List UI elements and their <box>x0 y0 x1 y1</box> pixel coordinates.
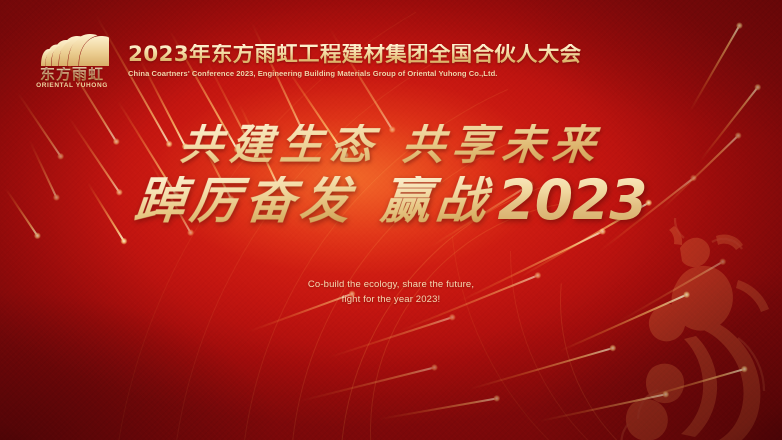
conference-title-cn: 2023年东方雨虹工程建材集团全国合伙人大会 <box>128 44 581 67</box>
rainbow-arc-logo-icon <box>35 33 109 66</box>
header-text-block: 2023年东方雨虹工程建材集团全国合伙人大会 China Coartners' … <box>128 44 581 79</box>
logo-name-en: ORIENTAL YUHONG <box>36 83 108 90</box>
headline-year: 2023 <box>497 173 646 228</box>
conference-title-en: China Coartners' Conference 2023, Engine… <box>128 70 581 78</box>
logo-name-cn: 东方雨虹 <box>40 67 104 82</box>
tagline-block: Co-build the ecology, share the future, … <box>0 278 782 307</box>
headline-line-2-right: 赢战 <box>379 176 494 226</box>
conference-banner: 东方雨虹 ORIENTAL YUHONG 2023年东方雨虹工程建材集团全国合伙… <box>0 0 782 440</box>
headline-line-2-left: 踔厉奋发 <box>133 176 358 226</box>
tagline-line-1: Co-build the ecology, share the future, <box>0 278 782 293</box>
headline-block: 共建生态 共享未来 踔厉奋发 赢战 2023 <box>0 124 782 228</box>
headline-line-1: 共建生态 共享未来 <box>178 124 604 167</box>
company-logo: 东方雨虹 ORIENTAL YUHONG <box>28 33 116 90</box>
tagline-line-2: fight for the year 2023! <box>0 293 782 308</box>
headline-line-2: 踔厉奋发 赢战 2023 <box>0 173 782 228</box>
banner-header: 东方雨虹 ORIENTAL YUHONG 2023年东方雨虹工程建材集团全国合伙… <box>28 33 581 90</box>
